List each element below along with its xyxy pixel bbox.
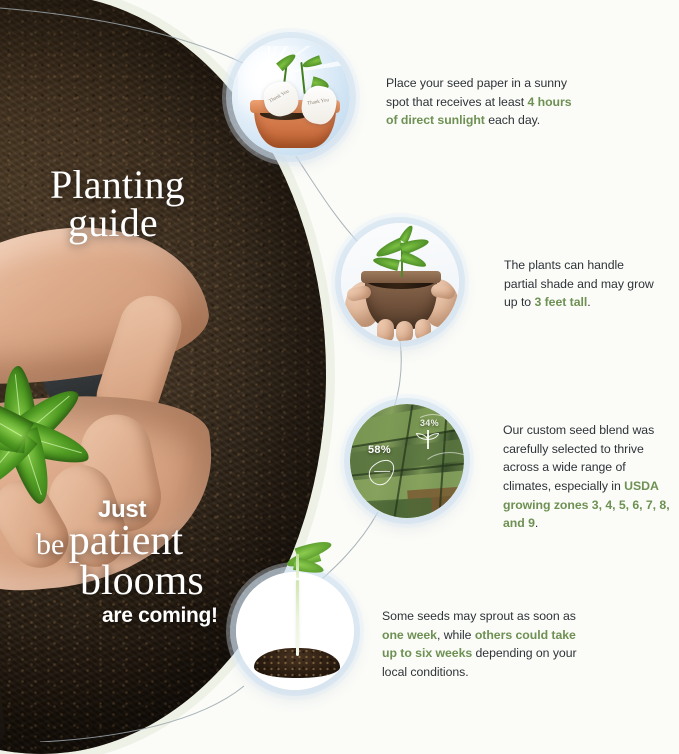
quote-word-coming: are coming! (102, 604, 236, 628)
finger (396, 321, 413, 341)
finger (415, 319, 431, 341)
page-title: Planting guide (50, 166, 185, 241)
step-text-sunlight: Place your seed paper in a sunny spot th… (386, 74, 582, 130)
hero-footer-quote: Just be patient blooms are coming! (36, 498, 236, 628)
quote-word-blooms: blooms (80, 561, 236, 602)
sprout-stem (296, 580, 299, 656)
text-run-highlight: one week (382, 628, 437, 642)
step-thumbnail-shade[interactable] (341, 223, 459, 341)
finger (377, 319, 394, 341)
page-title-line-2: guide (68, 204, 185, 242)
sprout-leaves-overflow (284, 536, 354, 580)
step-thumbnail-germination[interactable] (236, 572, 354, 690)
text-run: Some seeds may sprout as soon as (382, 609, 576, 623)
sprout-stem-top (296, 554, 299, 578)
step-text-germination: Some seeds may sprout as soon as one wee… (382, 607, 588, 682)
quote-word-be: be (36, 528, 64, 561)
plant-growth-icon (416, 430, 440, 450)
seed-paper-tag-text: Thank You (307, 98, 330, 108)
step-text-shade: The plants can handle partial shade and … (504, 256, 654, 312)
growth-value-label: 34% (420, 418, 439, 428)
text-run: each day. (485, 113, 540, 127)
step-thumbnail-climate[interactable]: 58% 34% (350, 404, 464, 518)
text-run: , while (437, 628, 475, 642)
seed-paper-tag-text: Thank You (268, 89, 290, 105)
step-text-climate: Our custom seed blend was carefully sele… (503, 421, 671, 533)
text-run-highlight: 3 feet tall (534, 295, 587, 309)
step-thumbnail-sunlight[interactable]: Thank You Thank You (232, 38, 350, 156)
moisture-value-label: 58% (368, 444, 391, 456)
planting-guide-infographic: Planting guide Just be patient blooms ar… (0, 0, 679, 742)
text-run: . (587, 295, 590, 309)
text-run: . (535, 516, 538, 530)
